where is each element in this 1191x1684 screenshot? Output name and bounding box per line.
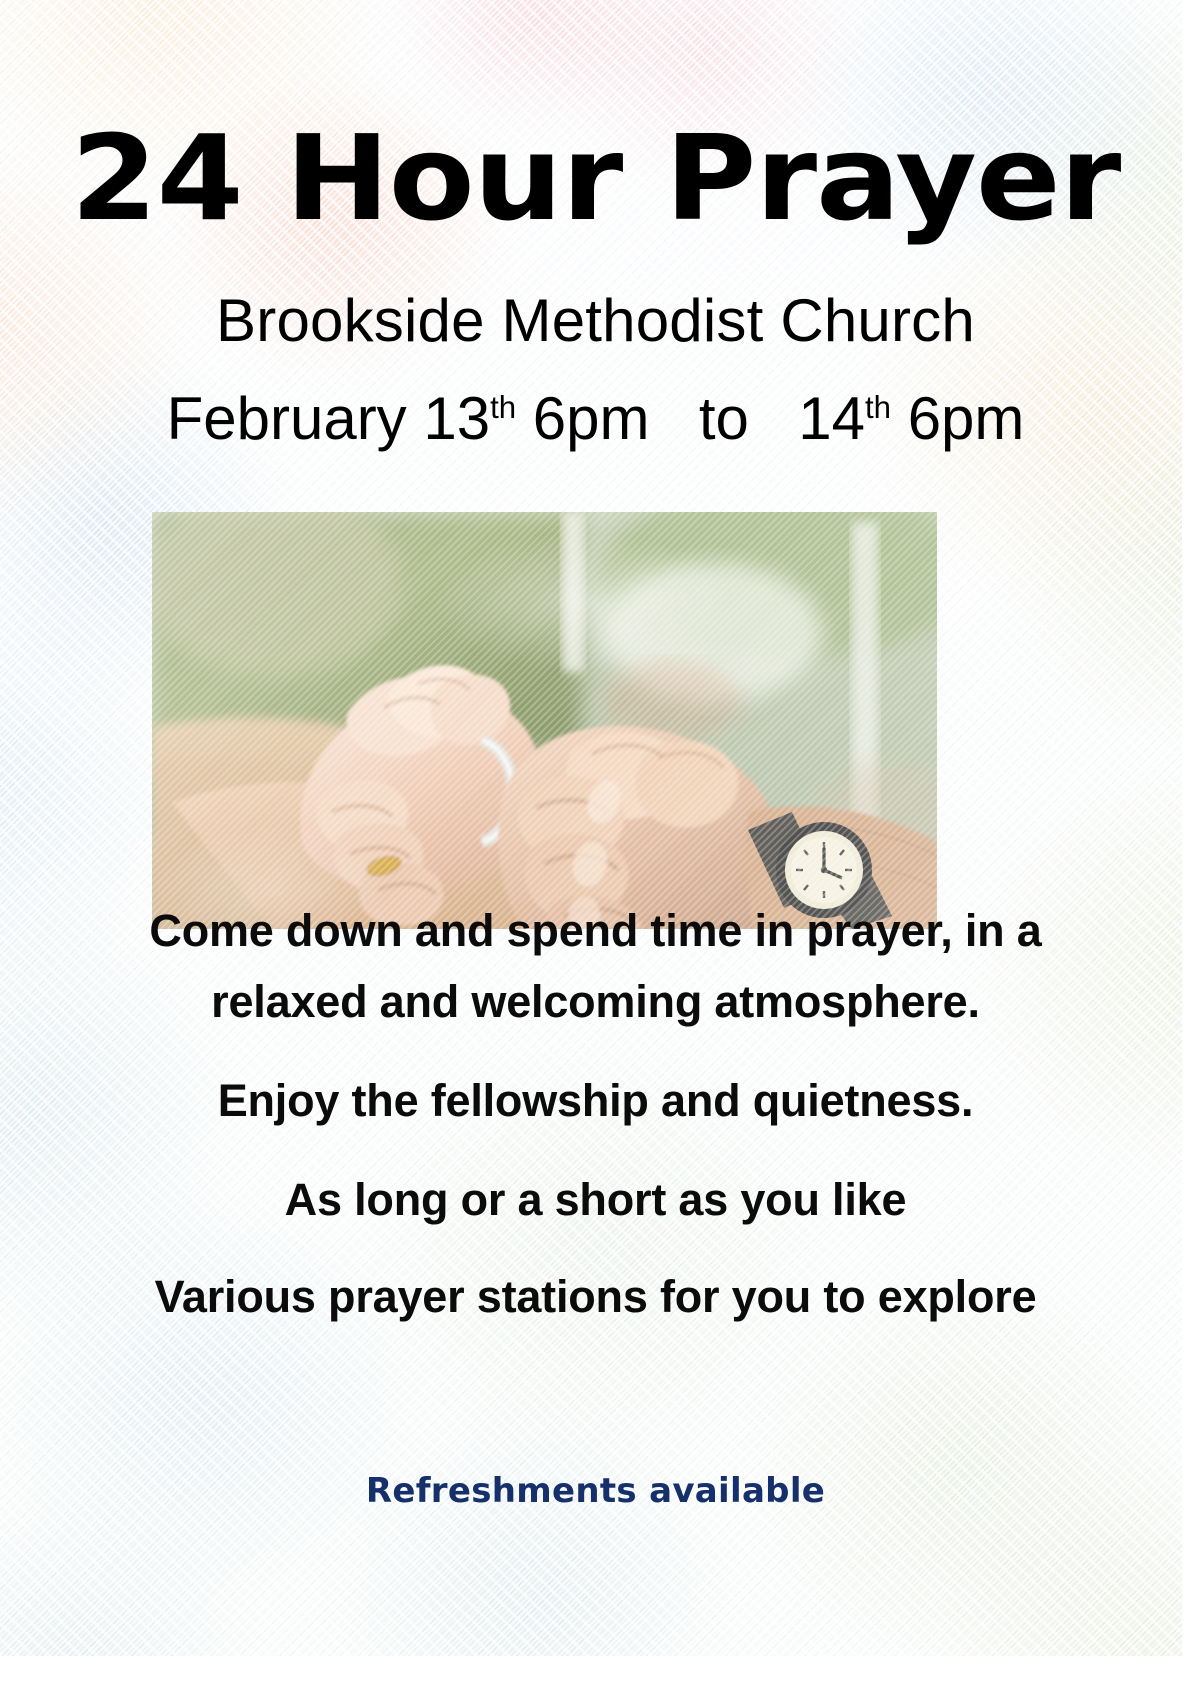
poster-subtitle-venue: Brookside Methodist Church: [0, 288, 1191, 354]
date-connector: to: [699, 385, 749, 452]
body-line-2: relaxed and welcoming atmosphere.: [0, 979, 1191, 1024]
body-line-4: As long or a short as you like: [0, 1177, 1191, 1222]
body-line-5: Various prayer stations for you to explo…: [0, 1274, 1191, 1319]
refreshments-note: Refreshments available: [0, 1471, 1191, 1511]
date-end-time: 6pm: [908, 385, 1025, 452]
date-start-day: 13: [423, 385, 490, 452]
date-end-day: 14: [798, 385, 865, 452]
poster-content: 24 Hour Prayer Brookside Methodist Churc…: [0, 0, 1191, 1684]
poster-dateline: February 13th 6pm to 14th 6pm: [0, 386, 1191, 452]
praying-hands-illustration: [152, 512, 937, 929]
date-start-time: 6pm: [533, 385, 650, 452]
date-month: February: [167, 385, 407, 452]
praying-hands-photo: [152, 512, 937, 929]
date-start-suffix: th: [490, 390, 516, 425]
body-line-1: Come down and spend time in prayer, in a: [0, 908, 1191, 953]
body-line-3: Enjoy the fellowship and quietness.: [0, 1078, 1191, 1123]
poster-title: 24 Hour Prayer: [0, 118, 1191, 238]
poster-body-copy: Come down and spend time in prayer, in a…: [0, 908, 1191, 1319]
date-end-suffix: th: [865, 390, 891, 425]
poster: 24 Hour Prayer Brookside Methodist Churc…: [0, 0, 1191, 1684]
